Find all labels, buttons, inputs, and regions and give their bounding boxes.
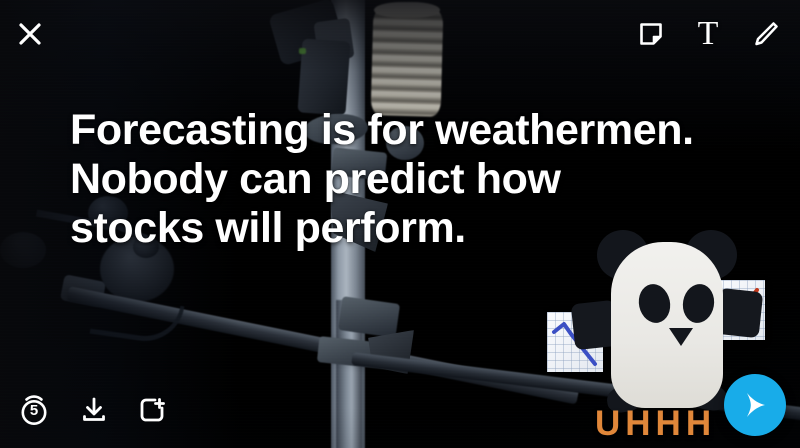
save-button[interactable] [72,388,116,432]
text-tool-button[interactable]: T [686,12,730,56]
timer-button[interactable]: 5 [12,388,56,432]
close-button[interactable] [10,14,50,54]
bottom-toolbar: 5 [0,370,800,448]
add-to-story-button[interactable] [130,388,174,432]
send-button[interactable] [724,374,786,436]
close-icon [17,21,43,47]
panda-eye-right [680,282,717,326]
pen-icon [752,20,780,48]
sticker-tool-button[interactable] [629,12,673,56]
download-icon [79,395,109,425]
send-icon [738,388,772,422]
add-to-story-icon [137,395,167,425]
top-toolbar: T [0,0,800,70]
caption-line-2: Nobody can predict how [70,155,776,204]
pen-tool-button[interactable] [744,12,788,56]
panda-eye-left [635,281,673,326]
sticker-icon [637,20,665,48]
caption-line-1: Forecasting is for weathermen. [70,106,776,155]
text-icon: T [698,17,719,51]
panda-nose [669,328,693,346]
timer-value: 5 [12,402,56,419]
snap-editor-screen: Forecasting is for weathermen. Nobody ca… [0,0,800,448]
